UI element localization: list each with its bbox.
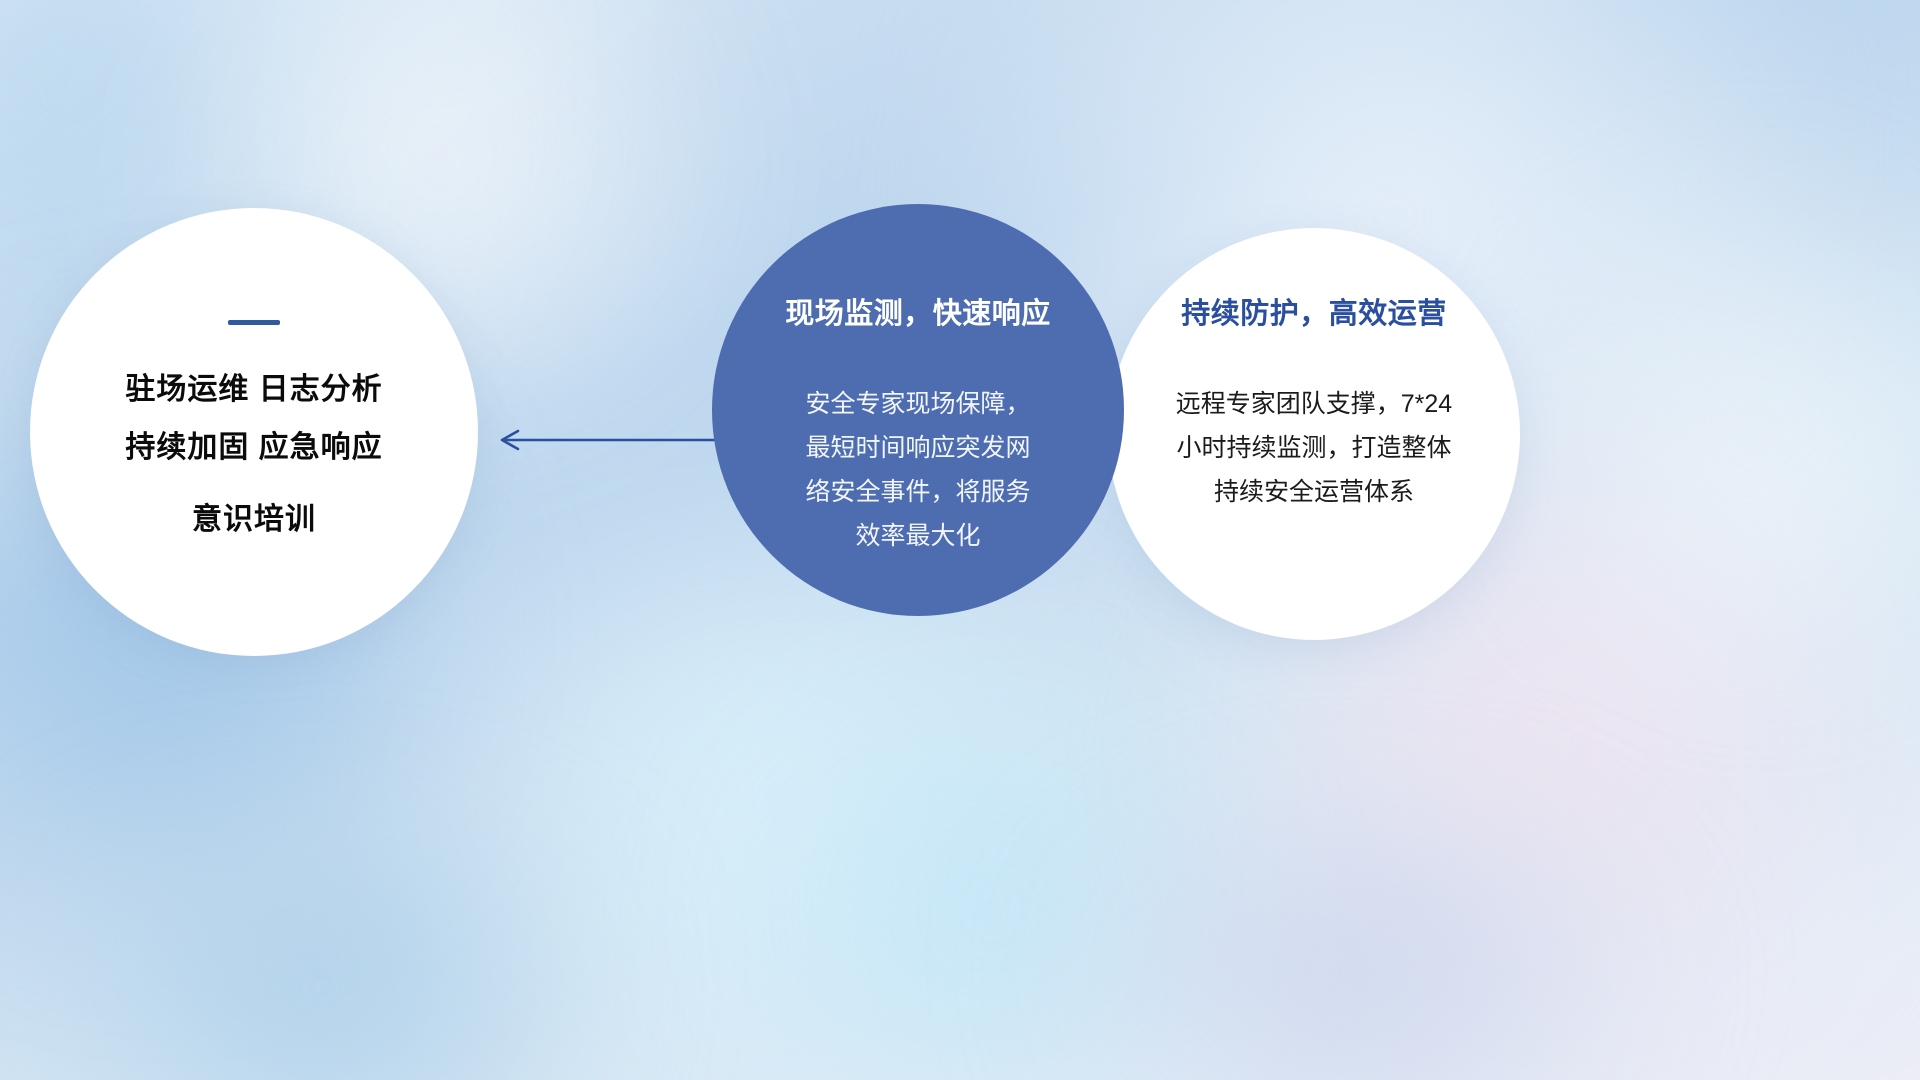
capability-tags-row-3: 意识培训 [125, 491, 382, 549]
onsite-description-line-1: 安全专家现场保障， [805, 390, 1030, 418]
protection-description-line-1: 远程专家团队支撑，7*24 [1176, 390, 1452, 418]
flow-arrow-left [488, 418, 728, 462]
onsite-description-line-4: 效率最大化 [855, 522, 980, 550]
onsite-heading: 现场监测，快速响应 [785, 290, 1051, 332]
node-onsite-monitoring-circle[interactable]: 现场监测，快速响应 安全专家现场保障， 最短时间响应突发网 络安全事件，将服务 … [712, 204, 1124, 616]
onsite-description-line-3: 络安全事件，将服务 [805, 478, 1030, 506]
divider-dash [228, 320, 280, 325]
protection-description-line-2: 小时持续监测，打造整体 [1176, 434, 1451, 462]
protection-description: 远程专家团队支撑，7*24 小时持续监测，打造整体 持续安全运营体系 [1138, 382, 1490, 514]
protection-description-line-3: 持续安全运营体系 [1214, 478, 1414, 506]
capability-tag-list: 驻场运维 日志分析 持续加固 应急响应 意识培训 [125, 361, 382, 549]
capability-tags-row-2: 持续加固 应急响应 [125, 431, 382, 464]
node-capabilities-circle[interactable]: 驻场运维 日志分析 持续加固 应急响应 意识培训 [30, 208, 478, 656]
capability-tags-row-1: 驻场运维 日志分析 [125, 373, 382, 406]
node-continuous-protection-circle[interactable]: 持续防护，高效运营 远程专家团队支撑，7*24 小时持续监测，打造整体 持续安全… [1108, 228, 1520, 640]
onsite-description-line-2: 最短时间响应突发网 [805, 434, 1030, 462]
onsite-description: 安全专家现场保障， 最短时间响应突发网 络安全事件，将服务 效率最大化 [768, 382, 1068, 558]
protection-heading: 持续防护，高效运营 [1181, 290, 1447, 332]
